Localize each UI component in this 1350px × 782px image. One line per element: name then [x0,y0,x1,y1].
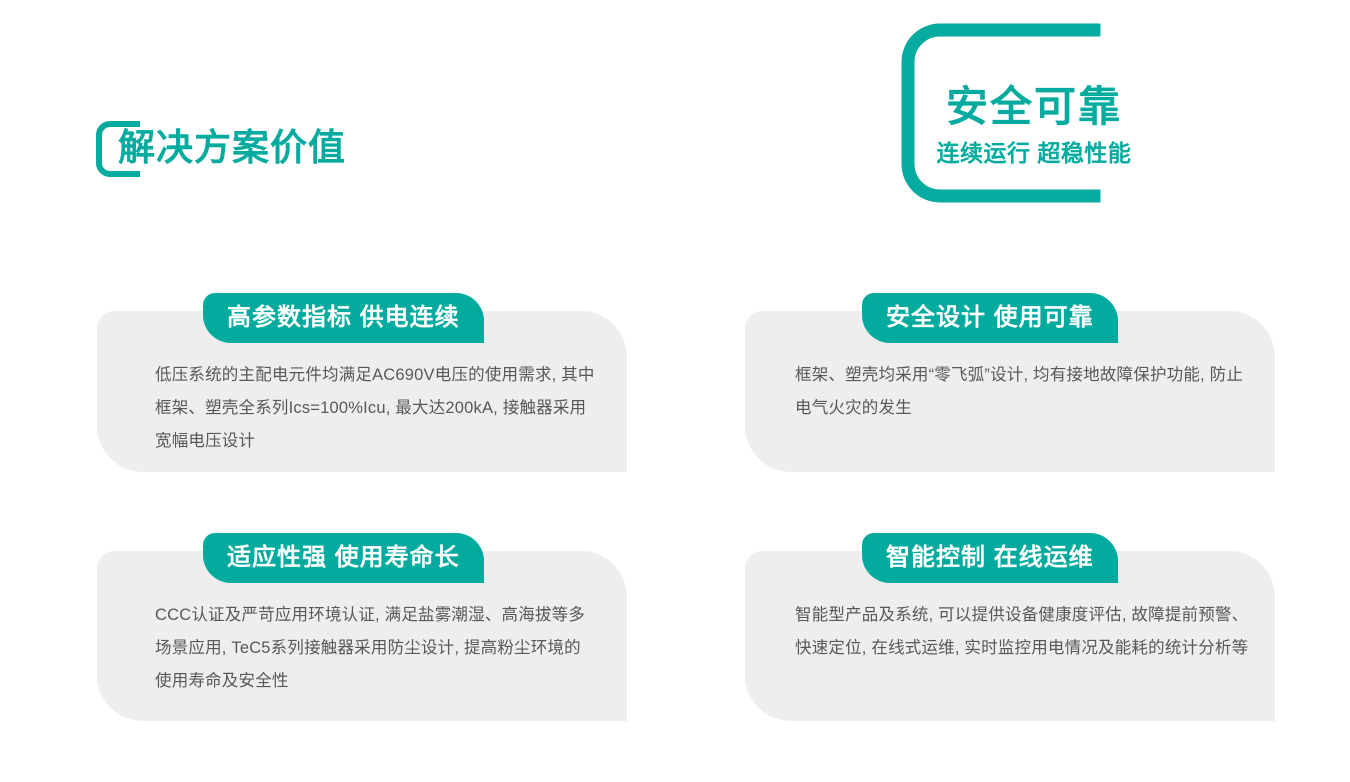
feature-card-heading-pill: 安全设计 使用可靠 [862,293,1118,343]
feature-card-heading-pill: 适应性强 使用寿命长 [203,533,484,583]
feature-card-heading: 高参数指标 供电连续 [227,305,460,331]
feature-card-body: CCC认证及严苛应用环境认证, 满足盐雾潮湿、高海拔等多场景应用, TeC5系列… [155,599,597,698]
feature-card-heading-pill: 智能控制 在线运维 [862,533,1118,583]
feature-card-heading: 适应性强 使用寿命长 [227,545,460,571]
feature-card-heading: 智能控制 在线运维 [886,545,1094,571]
feature-card-body: 低压系统的主配电元件均满足AC690V电压的使用需求, 其中框架、塑壳全系列Ic… [155,359,597,458]
feature-card-body: 框架、塑壳均采用“零飞弧”设计, 均有接地故障保护功能, 防止电气火灾的发生 [795,359,1249,425]
feature-card-grid: 低压系统的主配电元件均满足AC690V电压的使用需求, 其中框架、塑壳全系列Ic… [0,0,1350,782]
feature-card-heading-pill: 高参数指标 供电连续 [203,293,484,343]
feature-card-heading: 安全设计 使用可靠 [886,305,1094,331]
feature-card-body: 智能型产品及系统, 可以提供设备健康度评估, 故障提前预警、快速定位, 在线式运… [795,599,1249,665]
